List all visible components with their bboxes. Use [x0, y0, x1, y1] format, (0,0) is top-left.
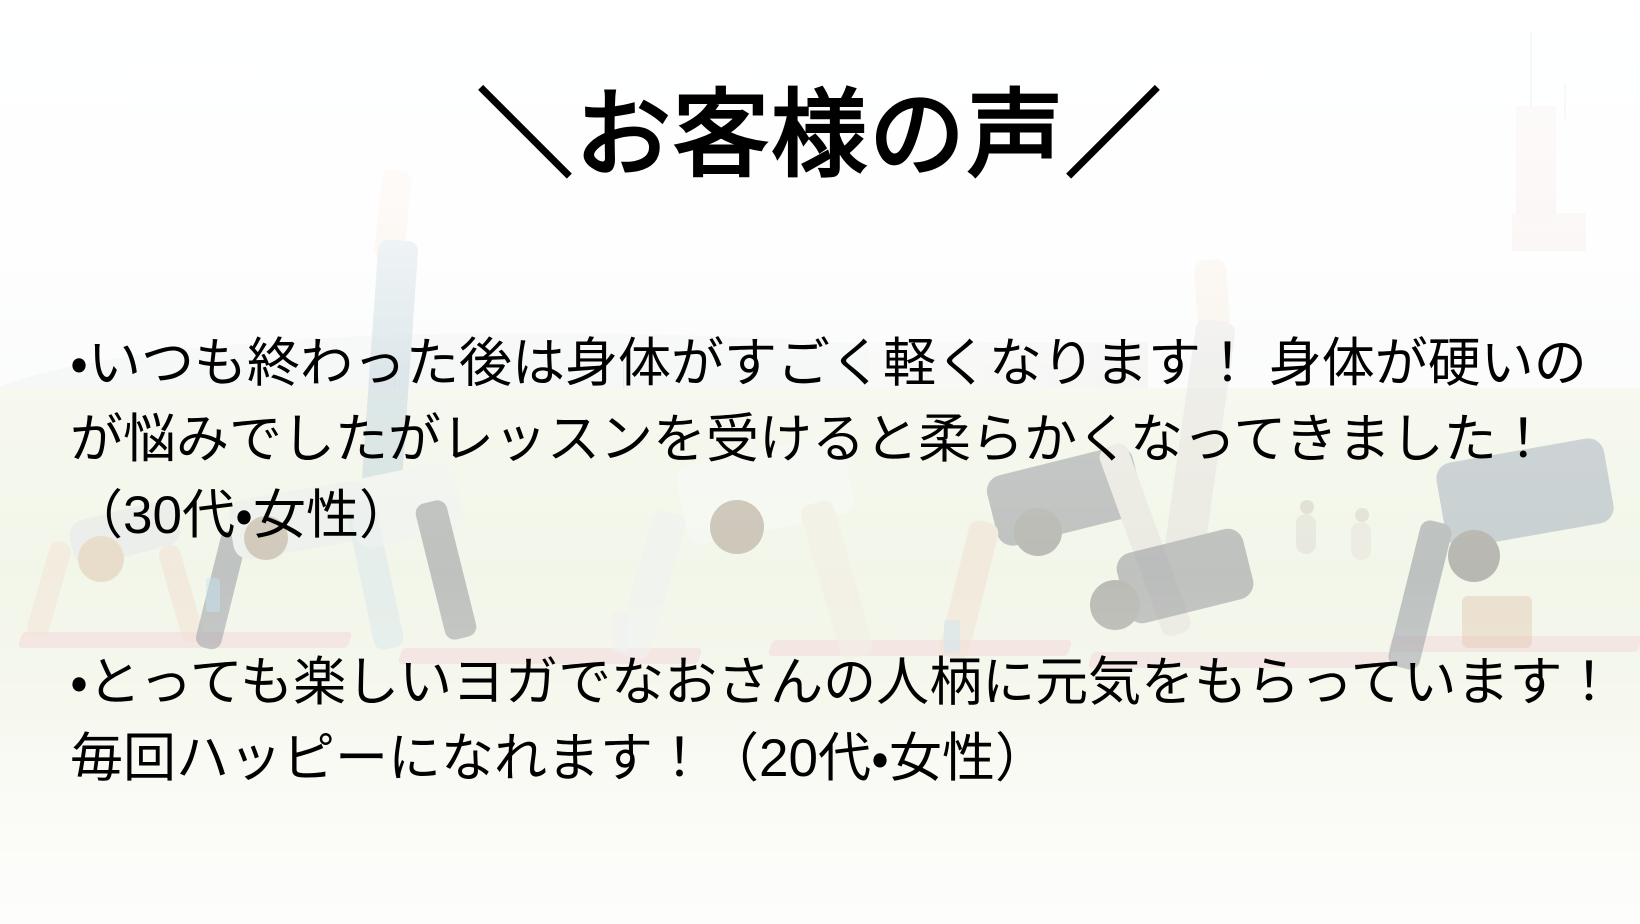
slide-content: ＼お客様の声／ ・いつも終わった後は身体がすごく軽くなります！ 身体が硬いの が…	[0, 0, 1640, 924]
testimonial-1: ・いつも終わった後は身体がすごく軽くなります！ 身体が硬いの が悩みでしたがレッ…	[70, 326, 1600, 554]
page-title: ＼お客様の声／	[0, 86, 1640, 187]
testimonial-2-attribution: 毎回ハッピーになれます！（20代・女性）	[70, 721, 1600, 797]
testimonial-1-attribution: （30代・女性）	[70, 478, 1600, 554]
testimonial-2: ・とっても楽しいヨガでなおさんの人柄に元気をもらっています！ 毎回ハッピーになれ…	[70, 645, 1600, 797]
testimonial-1-line-1: ・いつも終わった後は身体がすごく軽くなります！ 身体が硬いの	[70, 326, 1600, 402]
testimonial-slide: ＼お客様の声／ ・いつも終わった後は身体がすごく軽くなります！ 身体が硬いの が…	[0, 0, 1640, 924]
testimonial-2-line-1: ・とっても楽しいヨガでなおさんの人柄に元気をもらっています！	[70, 645, 1600, 721]
testimonial-1-line-2: が悩みでしたがレッスンを受けると柔らかくなってきました！	[70, 402, 1600, 478]
